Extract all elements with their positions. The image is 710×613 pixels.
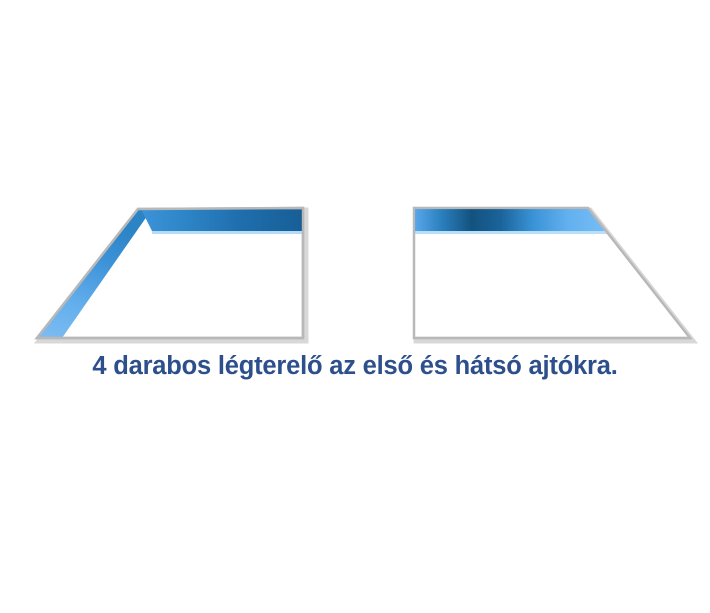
rear-deflector-band-highlight: [414, 231, 608, 234]
front-deflector-top-band: [141, 208, 303, 231]
rear-door-deflector: [414, 208, 693, 341]
front-deflector-band-highlight: [152, 231, 303, 234]
caption-text: 4 darabos légterelő az első és hátsó ajt…: [0, 352, 710, 381]
rear-deflector-top-band: [414, 208, 606, 231]
front-door-deflector: [37, 208, 306, 341]
wind-deflector-pair-illustration: [0, 0, 710, 355]
illustration-canvas: 4 darabos légterelő az első és hátsó ajt…: [0, 0, 710, 613]
